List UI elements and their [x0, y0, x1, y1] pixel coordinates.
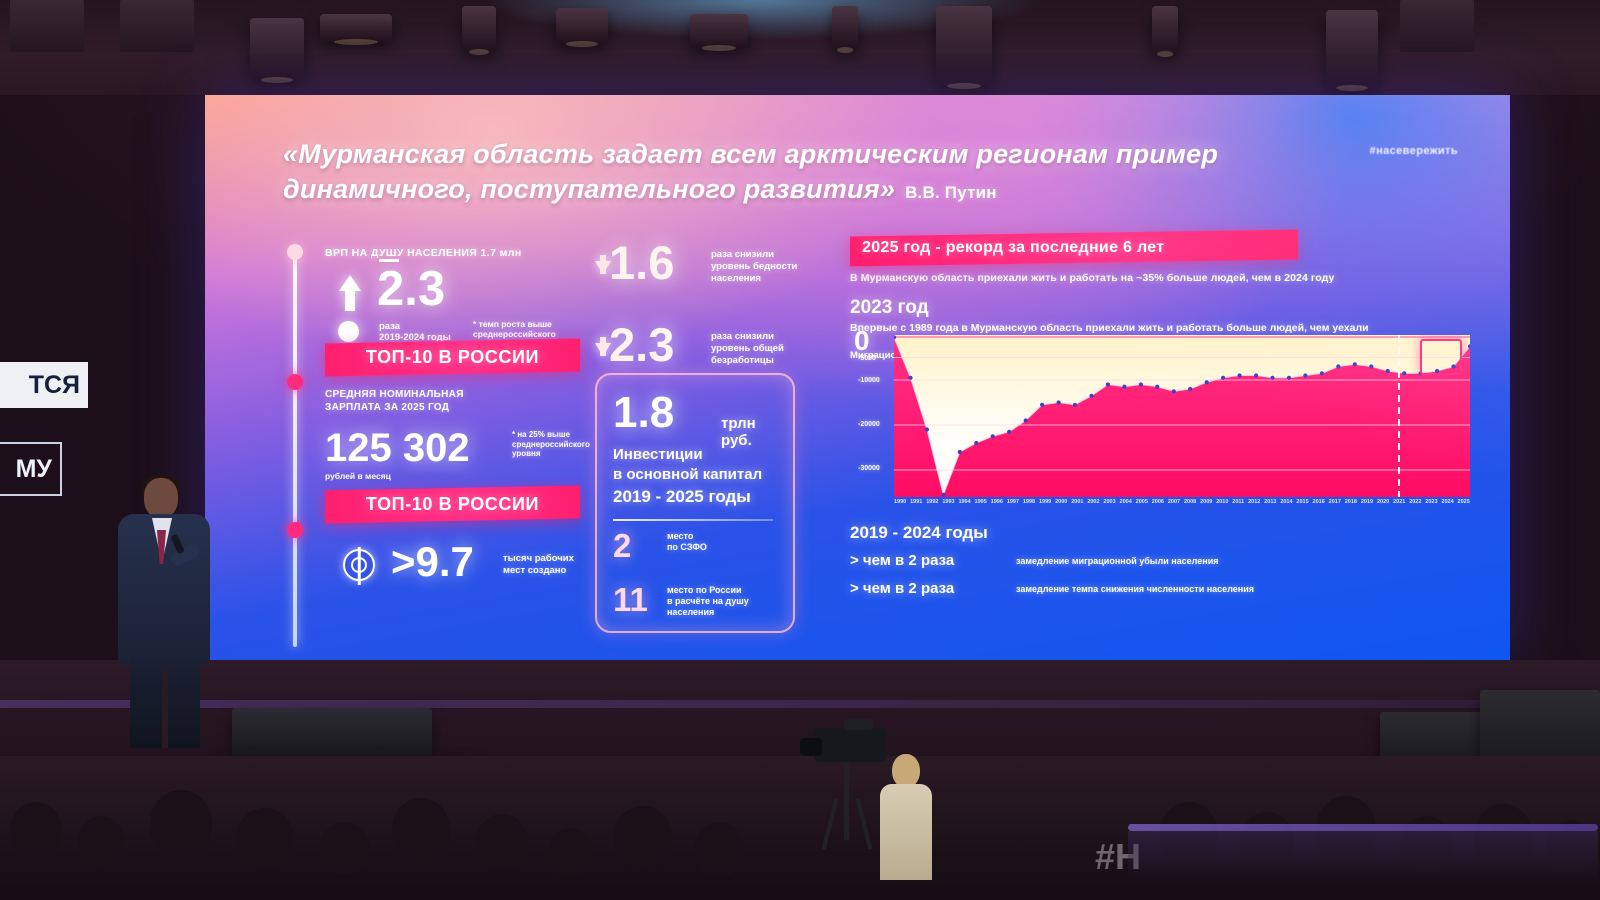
timeline-rail: [293, 252, 297, 647]
rail-dot-bottom: [287, 522, 303, 538]
summary-row-1-note: замедление миграционной убыли населения: [1016, 556, 1219, 566]
camera-operator-head: [892, 754, 920, 788]
rail-dot-middle: [287, 374, 303, 390]
ratio-poverty: 1.6 раза снизили уровень бедности населе…: [595, 245, 813, 313]
investment-headline: 1.8 трлн руб.: [613, 391, 779, 445]
chart-xtick: 2004: [1120, 499, 1132, 505]
chart-xtick: 2025: [1458, 499, 1470, 505]
audience-head: [236, 808, 294, 868]
chart-xtick: 2016: [1313, 499, 1325, 505]
summary-row-2-note: замедление темпа снижения численности на…: [1016, 584, 1254, 594]
rank-russia-note-line-2: в расчёте на душу: [667, 596, 793, 607]
record-2025-subtitle: В Мурманскую область приехали жить и раб…: [850, 272, 1450, 284]
chart-xtick: 2001: [1071, 499, 1083, 505]
rank-szfo: 2 место по СЗФО: [613, 529, 779, 583]
chart-xtick: 2021: [1393, 499, 1405, 505]
summary-block: 2019 - 2024 годы > чем в 2 раза замедлен…: [850, 523, 1370, 599]
ratio-poverty-note: раза снизили уровень бедности населения: [711, 249, 815, 285]
stage-monitor: [232, 708, 432, 760]
rank-szfo-note-line-2: по СЗФО: [667, 542, 793, 553]
truss: [120, 0, 194, 52]
summary-row-1: > чем в 2 раза замедление миграционной у…: [850, 552, 1370, 571]
ratio-unemployment-note-line-1: раза снизили: [711, 331, 815, 343]
rank-szfo-note: место по СЗФО: [667, 531, 793, 553]
audience-railing-shadow: [1128, 831, 1598, 877]
stage-light: [462, 6, 496, 52]
stage-edge: [0, 700, 1600, 708]
chart-x-axis: 1990199119921993199419951996199719981999…: [894, 499, 1470, 513]
chart-ytick-2: -10000: [858, 377, 880, 384]
side-banner-line-2: МУ: [0, 442, 62, 496]
chart-xtick: 2017: [1329, 499, 1341, 505]
audience-railing: [1128, 824, 1598, 831]
jobs-note: тысяч рабочих мест создано: [503, 553, 589, 576]
ratio-unemployment-note-line-2: уровень общей: [711, 343, 815, 355]
stage-light: [1152, 6, 1178, 54]
summary-row-1-bold: > чем в 2 раза: [850, 552, 954, 569]
rank-russia-note: место по России в расчёте на душу населе…: [667, 585, 793, 618]
rank-russia-note-line-1: место по России: [667, 585, 793, 596]
chart-xtick: 2014: [1280, 499, 1292, 505]
summary-years: 2019 - 2024 годы: [850, 523, 1370, 543]
chart-xtick: 1990: [894, 499, 906, 505]
audience-head: [694, 822, 744, 876]
slide-title-text: «Мурманская область задает всем арктичес…: [283, 139, 1218, 204]
audience-head: [150, 790, 212, 856]
ratio-unemployment-value: 2.3: [609, 321, 674, 368]
ratio-poverty-note-line-2: уровень бедности: [711, 261, 815, 273]
bullet-circle-icon: [338, 321, 359, 342]
tripod-leg: [822, 798, 838, 849]
ribbon-top10-jobs-label: ТОП-10 В РОССИИ: [325, 488, 580, 521]
chart-xtick: 1996: [991, 499, 1003, 505]
stage-light: [320, 14, 392, 42]
salary-label-line-1: СРЕДНЯЯ НОМИНАЛЬНАЯ: [325, 388, 580, 401]
ratio-unemployment-note-line-3: безработицы: [711, 355, 815, 367]
ribbon-top10-jobs: ТОП-10 В РОССИИ: [325, 486, 580, 524]
chart-xtick: 1998: [1023, 499, 1035, 505]
grp-note: * темп роста выше среднероссийского: [473, 319, 581, 339]
investment-card: 1.8 трлн руб. Инвестиции в основной капи…: [595, 373, 795, 633]
rank-russia: 11 место по России в расчёте на душу нас…: [613, 583, 779, 637]
chart-xtick: 1995: [975, 499, 987, 505]
gear-icon: [343, 549, 375, 581]
side-banner-line-1: ТСЯ: [0, 362, 88, 408]
metrics-column-1: ВРП НА ДУШУ НАСЕЛЕНИЯ 1.7 млн 2.3 раза 2…: [325, 247, 580, 591]
chart-xtick: 2022: [1409, 499, 1421, 505]
chart-xtick: 2024: [1441, 499, 1453, 505]
chart-xtick: 2002: [1087, 499, 1099, 505]
salary-row: 125 302 рублей в месяц * на 25% выше сре…: [325, 428, 580, 478]
chart-xtick: 1993: [942, 499, 954, 505]
stage-light: [936, 6, 992, 86]
truss: [1400, 0, 1474, 52]
slide: «Мурманская область задает всем арктичес…: [205, 95, 1510, 665]
chart-xtick: 2005: [1136, 499, 1148, 505]
side-banner: ТСЯ МУ: [0, 320, 110, 550]
chart-xtick: 1992: [926, 499, 938, 505]
chart-xtick: 2000: [1055, 499, 1067, 505]
page-title: «Мурманская область задает всем арктичес…: [283, 137, 1243, 210]
ceiling: [0, 0, 1600, 95]
rail-dot-top: [287, 244, 303, 260]
tripod-leg: [856, 798, 872, 849]
audience-head: [320, 822, 370, 874]
chart-xtick: 2003: [1103, 499, 1115, 505]
grp-metric: 2.3 раза 2019-2024 годы * темп роста выш…: [325, 269, 580, 341]
grp-value: 2.3: [377, 265, 445, 314]
chart-xtick: 2015: [1296, 499, 1308, 505]
grp-unit: раза 2019-2024 годы: [379, 321, 451, 343]
chart-xtick: 2008: [1184, 499, 1196, 505]
camera-rig: [800, 728, 920, 858]
audience-head: [78, 816, 124, 866]
ribbon-record-2025-label: 2025 год - рекорд за последние 6 лет: [850, 233, 1298, 263]
speaker-head: [144, 478, 178, 518]
year-2023-heading: 2023 год: [850, 297, 1450, 319]
chart-xtick: 2006: [1152, 499, 1164, 505]
chart-xtick: 2019: [1361, 499, 1373, 505]
jobs-value: >9.7: [391, 541, 474, 583]
jobs-note-line-1: тысяч рабочих: [503, 553, 589, 565]
hashtag-logo: #насевережить: [1370, 145, 1458, 157]
ratio-poverty-note-line-3: населения: [711, 273, 815, 285]
audience-head: [10, 802, 62, 858]
audience-head: [392, 798, 450, 860]
chart-ytick-4: -30000: [858, 465, 880, 472]
camera-operator-body: [880, 784, 932, 880]
grp-unit-line-1: раза: [379, 321, 451, 332]
camera-lens-icon: [800, 738, 822, 756]
ratio-unemployment-note: раза снизили уровень общей безработицы: [711, 331, 815, 367]
speaker-legs: [130, 656, 200, 748]
chart-plot-area: [894, 335, 1470, 497]
chart-xtick: 2023: [1425, 499, 1437, 505]
audience-head: [614, 806, 672, 866]
projection-screen: «Мурманская область задает всем арктичес…: [205, 95, 1510, 665]
ribbon-top10-salary: ТОП-10 В РОССИИ: [325, 339, 580, 377]
audience-head: [548, 828, 594, 876]
stage-light: [250, 18, 304, 80]
chart-highlight-box: [1420, 339, 1462, 375]
chart-xtick: 2007: [1168, 499, 1180, 505]
camera-operator: [878, 754, 932, 872]
chart-ytick-3: -20000: [858, 421, 880, 428]
chart-xtick: 2020: [1377, 499, 1389, 505]
investment-years: 2019 - 2025 годы: [613, 487, 779, 507]
stage-light: [690, 14, 748, 48]
ribbon-record-2025: 2025 год - рекорд за последние 6 лет: [850, 229, 1298, 266]
jobs-note-line-2: мест создано: [503, 565, 589, 577]
rank-szfo-note-line-1: место: [667, 531, 793, 542]
chart-xtick: 2018: [1345, 499, 1357, 505]
salary-block: СРЕДНЯЯ НОМИНАЛЬНАЯ ЗАРПЛАТА ЗА 2025 ГОД…: [325, 388, 580, 478]
stage-light: [832, 6, 858, 50]
investment-unit: трлн руб.: [721, 415, 779, 449]
audience-head: [476, 814, 528, 870]
investment-divider: [613, 519, 773, 521]
summary-row-2-bold: > чем в 2 раза: [850, 580, 954, 597]
rank-russia-note-line-3: населения: [667, 607, 793, 618]
jobs-row: >9.7 тысяч рабочих мест создано: [325, 543, 580, 591]
ribbon-top10-salary-label: ТОП-10 В РОССИИ: [325, 341, 580, 374]
chart-ytick-1: -5000: [858, 355, 876, 362]
salary-label: СРЕДНЯЯ НОМИНАЛЬНАЯ ЗАРПЛАТА ЗА 2025 ГОД: [325, 388, 580, 414]
chart-xtick: 1994: [958, 499, 970, 505]
truss: [10, 0, 84, 52]
summary-row-2: > чем в 2 раза замедление темпа снижения…: [850, 580, 1370, 599]
ratio-poverty-value: 1.6: [609, 239, 674, 286]
investment-line-2: в основной капитал: [613, 465, 779, 485]
chart-xtick: 2009: [1200, 499, 1212, 505]
grp-kicker: ВРП НА ДУШУ НАСЕЛЕНИЯ 1.7 млн: [325, 247, 580, 259]
arrow-up-stem-icon: [345, 289, 355, 311]
slide-title-attribution: В.В. Путин: [905, 183, 997, 202]
speaker: [112, 478, 222, 750]
tripod-column: [844, 762, 849, 840]
stage-light: [1326, 10, 1378, 88]
salary-label-line-2: ЗАРПЛАТА ЗА 2025 ГОД: [325, 401, 580, 414]
chart-xtick: 2012: [1248, 499, 1260, 505]
venue-background: ТСЯ МУ «Мурманская область задает всем а…: [0, 0, 1600, 900]
chart-xtick: 2013: [1264, 499, 1276, 505]
chart-xtick: 1999: [1039, 499, 1051, 505]
chart-zero-label: 0: [854, 325, 870, 357]
ratio-poverty-note-line-1: раза снизили: [711, 249, 815, 261]
chart-svg: [894, 335, 1470, 497]
camera-top-handle: [844, 719, 874, 730]
chart-xtick: 2011: [1232, 499, 1244, 505]
chart-xtick: 1991: [910, 499, 922, 505]
video-camera: [814, 728, 886, 762]
migration-chart: 0 -5000 -10000 -20000 -30000: [850, 317, 1470, 507]
chart-xtick: 1997: [1007, 499, 1019, 505]
chart-xtick: 2010: [1216, 499, 1228, 505]
salary-unit: рублей в месяц: [325, 471, 580, 481]
stage-light: [556, 8, 608, 44]
salary-note: * на 25% выше среднероссийского уровня: [512, 430, 598, 459]
